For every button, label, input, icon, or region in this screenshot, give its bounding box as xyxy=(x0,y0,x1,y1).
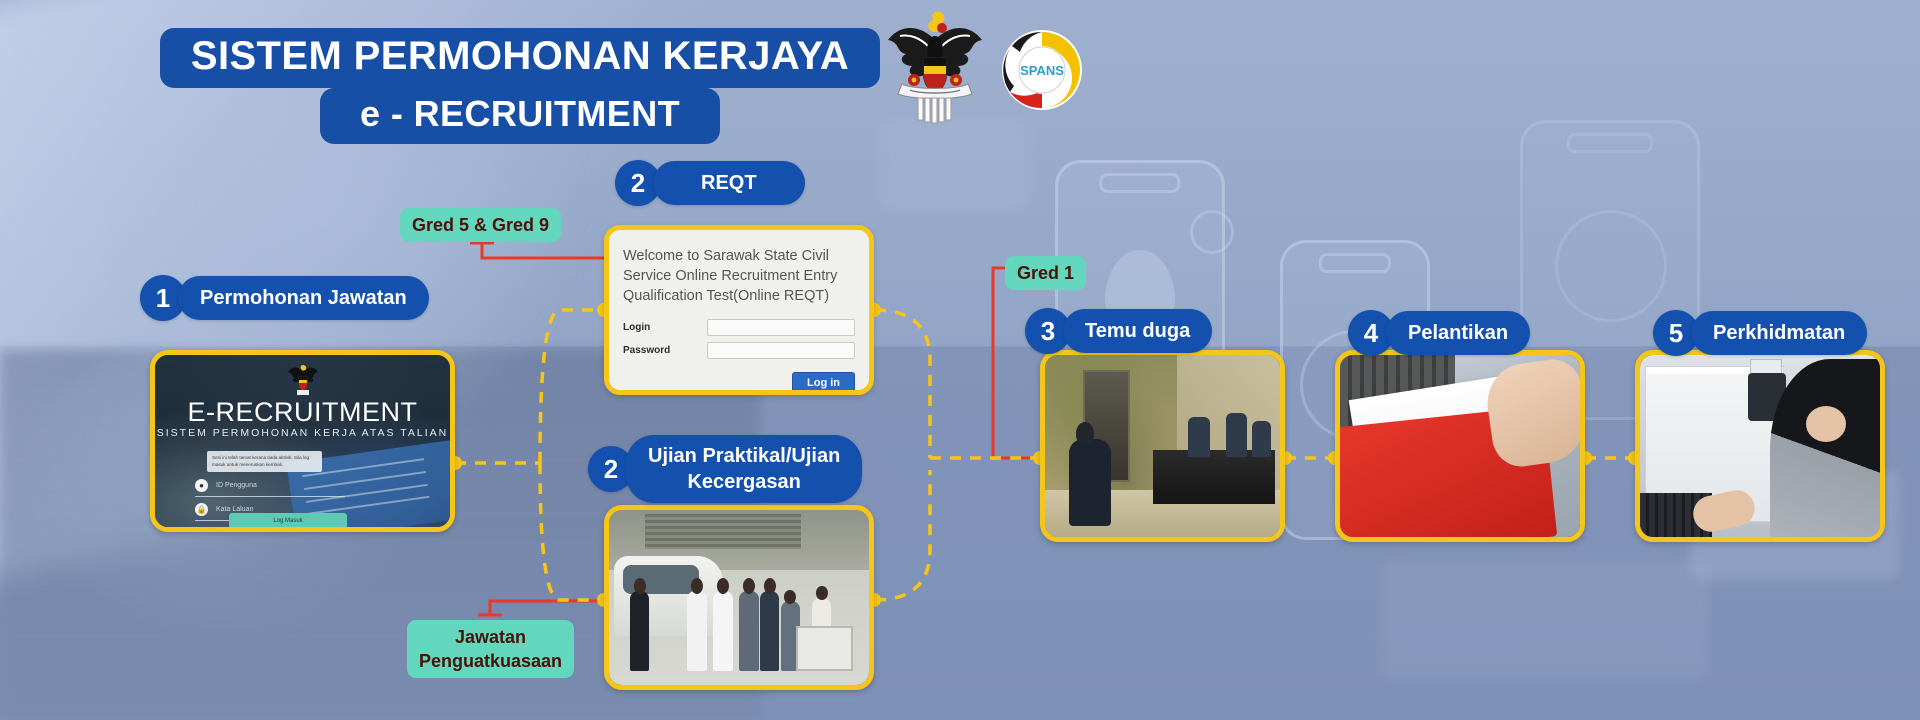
erecruitment-session-notice: Sesi ini telah tamat kerana tiada aktivi… xyxy=(207,451,322,472)
title-line-1: SISTEM PERMOHONAN KERJAYA xyxy=(160,28,880,88)
connector-gred1 xyxy=(993,268,1040,458)
interview-photo xyxy=(1045,355,1280,537)
erecruitment-screenshot-card[interactable]: E-RECRUITMENT SISTEM PERMOHONAN KERJA AT… xyxy=(150,350,455,532)
reqt-login-row: Login xyxy=(609,316,869,339)
step-label: Perkhidmatan xyxy=(1691,311,1867,355)
erecruitment-login-button[interactable]: Log Masuk xyxy=(229,513,347,529)
title-line-2: e - RECRUITMENT xyxy=(320,88,720,144)
practical-test-photo xyxy=(609,510,869,685)
step-label: Ujian Praktikal/Ujian Kecergasan xyxy=(626,435,862,503)
spans-logo-icon: SPANS xyxy=(1000,28,1084,112)
reqt-login-label: Login xyxy=(623,322,707,333)
photo-table xyxy=(796,626,853,672)
infographic-canvas: SISTEM PERMOHONAN KERJAYA e - RECRUITMEN… xyxy=(0,0,1920,720)
photo-candidate xyxy=(1069,439,1111,526)
page-title: SISTEM PERMOHONAN KERJAYA e - RECRUITMEN… xyxy=(160,28,880,144)
tag-gred-5-9: Gred 5 & Gred 9 xyxy=(400,208,561,242)
job-offer-letter-photo: JOB OFFER LETTER xyxy=(1340,355,1580,537)
reqt-password-input[interactable] xyxy=(707,342,855,359)
photo-hand xyxy=(1482,356,1585,470)
reqt-password-label: Password xyxy=(623,345,707,356)
step-pill-5[interactable]: 5 Perkhidmatan xyxy=(1653,310,1867,356)
erecruitment-user-placeholder: ID Pengguna xyxy=(216,482,257,489)
svg-text:SPANS: SPANS xyxy=(1020,63,1064,78)
job-offer-letter-photo-card[interactable]: JOB OFFER LETTER xyxy=(1335,350,1585,542)
connector-penguatkuasaan xyxy=(478,601,610,615)
service-photo-card[interactable] xyxy=(1635,350,1885,542)
step-label: Permohonan Jawatan xyxy=(178,276,429,320)
step-pill-reqt[interactable]: 2 REQT xyxy=(615,160,805,206)
sarawak-state-crest-icon xyxy=(880,6,990,124)
tag-jawatan-penguatkuasaan: Jawatan Penguatkuasaan xyxy=(407,620,574,678)
step-pill-practical[interactable]: 2 Ujian Praktikal/Ujian Kecergasan xyxy=(588,435,862,503)
interview-photo-card[interactable] xyxy=(1040,350,1285,542)
reqt-login-button[interactable]: Log in xyxy=(792,372,855,394)
user-icon: ● xyxy=(195,479,208,492)
step-label: Pelantikan xyxy=(1386,311,1530,355)
practical-test-photo-card[interactable] xyxy=(604,505,874,690)
step-pill-1[interactable]: 1 Permohonan Jawatan xyxy=(140,275,429,321)
erecruitment-user-field[interactable]: ● ID Pengguna xyxy=(195,479,345,497)
reqt-footer: Log in xyxy=(609,362,869,395)
reqt-login-input[interactable] xyxy=(707,319,855,336)
photo-shutter xyxy=(645,514,801,549)
erecruitment-brand: E-RECRUITMENT xyxy=(155,397,450,428)
erecruitment-subtitle: SISTEM PERMOHONAN KERJA ATAS TALIAN xyxy=(155,427,450,439)
step-pill-4[interactable]: 4 Pelantikan xyxy=(1348,310,1530,356)
step-label: REQT xyxy=(653,161,805,205)
erecruitment-password-placeholder: Kata Laluan xyxy=(216,506,253,513)
photo-officer xyxy=(1770,359,1885,541)
photo-candidate-head xyxy=(1076,422,1095,446)
step-pill-3[interactable]: 3 Temu duga xyxy=(1025,308,1212,354)
reqt-password-row: Password xyxy=(609,339,869,362)
connector-gred59 xyxy=(470,243,610,319)
lock-icon: 🔒 xyxy=(195,503,208,516)
tag-gred-1: Gred 1 xyxy=(1005,256,1086,290)
reqt-welcome-text: Welcome to Sarawak State Civil Service O… xyxy=(609,230,869,316)
sarawak-state-crest-icon xyxy=(286,360,320,396)
reqt-login-card[interactable]: Welcome to Sarawak State Civil Service O… xyxy=(604,225,874,395)
step-label: Temu duga xyxy=(1063,309,1212,353)
service-office-photo xyxy=(1640,355,1880,537)
photo-panel-table xyxy=(1153,450,1275,505)
